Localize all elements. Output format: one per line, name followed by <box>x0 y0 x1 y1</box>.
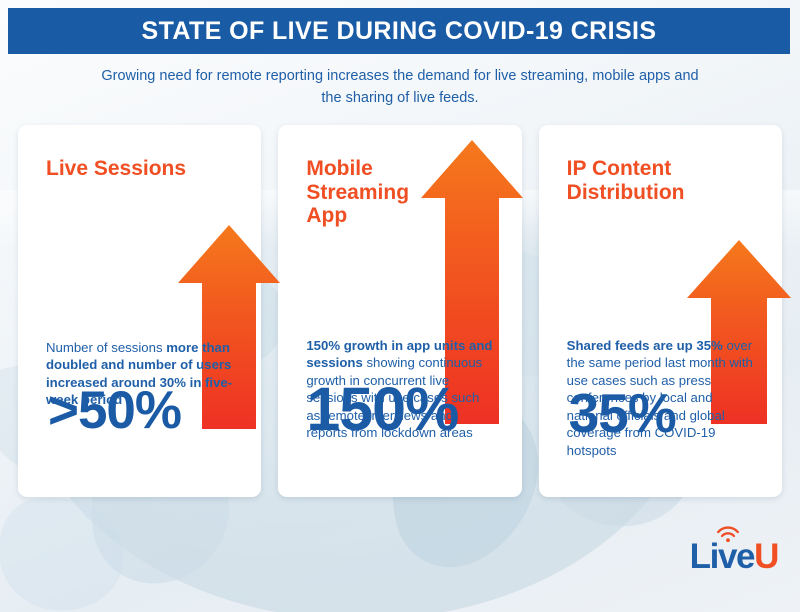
card-title: Mobile Streaming App <box>306 157 409 228</box>
body-bold-text: Shared feeds are up 35% <box>567 338 723 353</box>
body-lead-text: Number of sessions <box>46 340 166 355</box>
logo-wordmark: LiveU <box>690 539 778 574</box>
card-content: Mobile Streaming App 150% 150% growth in… <box>292 141 507 497</box>
stat-cards-row: Live Sessions >50% Number of sessions mo… <box>18 125 782 497</box>
stat-card-ip-content-distribution: IP Content Distribution 35% Shared feeds… <box>539 125 782 497</box>
wifi-signal-icon <box>716 526 740 542</box>
stat-card-live-sessions: Live Sessions >50% Number of sessions mo… <box>18 125 261 497</box>
card-content: IP Content Distribution 35% Shared feeds… <box>553 141 768 497</box>
card-content: Live Sessions >50% Number of sessions mo… <box>32 141 247 497</box>
card-description: Number of sessions more than doubled and… <box>46 339 235 409</box>
logo-text-u: U <box>754 537 778 576</box>
liveu-logo: LiveU <box>690 534 778 574</box>
logo-text-live: Live <box>690 537 754 576</box>
stat-card-mobile-streaming-app: Mobile Streaming App 150% 150% growth in… <box>278 125 521 497</box>
card-description: 150% growth in app units and sessions sh… <box>306 337 495 442</box>
subtitle-text: Growing need for remote reporting increa… <box>100 66 700 110</box>
card-title: IP Content Distribution <box>567 157 685 204</box>
card-description: Shared feeds are up 35% over the same pe… <box>567 337 756 459</box>
infographic-page: STATE OF LIVE DURING COVID-19 CRISIS Gro… <box>0 0 800 612</box>
body-tail-text: over the same period last month with use… <box>567 338 753 458</box>
card-title: Live Sessions <box>46 157 186 181</box>
header-bar: STATE OF LIVE DURING COVID-19 CRISIS <box>8 8 790 54</box>
page-title: STATE OF LIVE DURING COVID-19 CRISIS <box>142 17 657 46</box>
